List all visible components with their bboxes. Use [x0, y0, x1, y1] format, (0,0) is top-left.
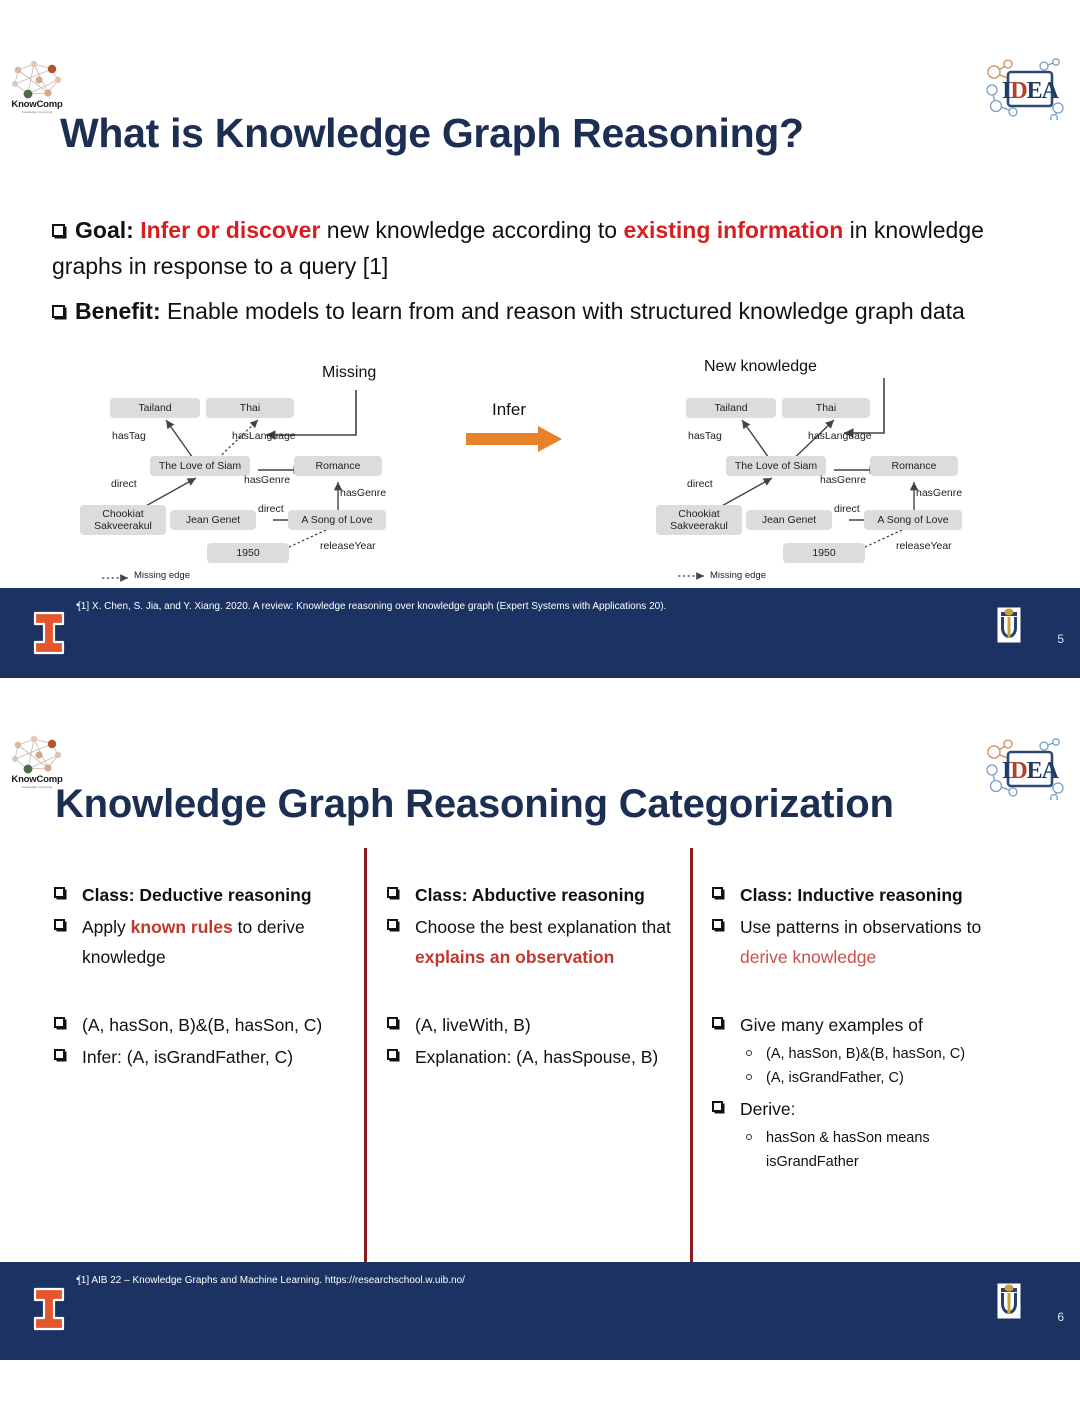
col3-subitem-0: (A, hasSon, B)&(B, hasSon, C) [710, 1042, 1030, 1066]
kg-left-node-a-song-of-love: A Song of Love [288, 510, 386, 530]
kg-right-edge-hastag: hasTag [688, 430, 722, 442]
checkbox-square-icon [387, 1049, 398, 1060]
slide2-page-number: 6 [1057, 1310, 1064, 1324]
slide2-title: Knowledge Graph Reasoning Categorization [55, 782, 894, 827]
slide1-footer: • [1] X. Chen, S. Jia, and Y. Xiang. 202… [0, 588, 1080, 678]
kg-left-edge-hastag: hasTag [112, 430, 146, 442]
col1-heading-label: Class: Deductive reasoning [82, 885, 312, 905]
col2-item-0: (A, liveWith, B) [385, 1010, 685, 1040]
hkust-logo [996, 606, 1022, 644]
bullet-goal: Goal: Infer or discover new knowledge ac… [52, 212, 1032, 284]
col3-subitem-1: (A, isGrandFather, C) [710, 1066, 1030, 1090]
slide2-footer-reference: [1] AIB 22 – Knowledge Graphs and Machin… [78, 1275, 465, 1286]
circle-bullet-icon [746, 1134, 752, 1140]
col3-item-0: Give many examples of [710, 1010, 1030, 1040]
column-divider-2 [690, 848, 693, 1293]
checkbox-square-icon [387, 919, 398, 930]
checkbox-square-icon [54, 919, 65, 930]
slide1-page-number: 5 [1057, 632, 1064, 646]
kg-left-edge-hasgenre-2: hasGenre [340, 487, 386, 499]
kg-right-node-tailand: Tailand [686, 398, 776, 418]
checkbox-square-icon [712, 887, 723, 898]
column-deductive: Class: Deductive reasoning Apply known r… [52, 880, 352, 1074]
col3-heading: Class: Inductive reasoning [710, 880, 1030, 910]
col2-heading-label: Class: Abductive reasoning [415, 885, 645, 905]
checkbox-square-icon [712, 1017, 723, 1028]
infer-arrow-icon [466, 425, 566, 460]
idea-logo: IDEA [984, 738, 1068, 800]
kg-left-legend: Missing edge [134, 570, 190, 581]
col1-item-0: (A, hasSon, B)&(B, hasSon, C) [52, 1010, 352, 1040]
circle-bullet-icon [746, 1050, 752, 1056]
bullet-goal-part-2: existing information [623, 217, 843, 243]
kg-right-node-thai: Thai [782, 398, 870, 418]
slide1-footer-reference: [1] X. Chen, S. Jia, and Y. Xiang. 2020.… [78, 601, 666, 612]
knowcomp-network-icon [8, 735, 66, 775]
kg-right-node-romance: Romance [870, 456, 958, 476]
kg-left-node-1950: 1950 [207, 543, 289, 563]
checkbox-square-icon [52, 305, 65, 318]
column-abductive: Class: Abductive reasoning Choose the be… [385, 880, 685, 1074]
checkbox-square-icon [387, 887, 398, 898]
col1-desc-pre: Apply [82, 917, 131, 937]
bullet-goal-lead: Goal [75, 217, 126, 243]
kg-right-edge-direct-1: direct [687, 478, 713, 490]
col2-desc-highlight: explains an observation [415, 947, 614, 967]
kg-left-edge-direct-2: direct [258, 503, 284, 515]
col3-heading-label: Class: Inductive reasoning [740, 885, 963, 905]
kg-right-node-chookiat: Chookiat Sakveerakul [656, 505, 742, 535]
kg-left-caption: Missing [322, 364, 376, 382]
kg-left-edge-direct-1: direct [111, 478, 137, 490]
kg-right-edge-hasgenre-2: hasGenre [916, 487, 962, 499]
kg-right-node-love-of-siam: The Love of Siam [726, 456, 826, 476]
kg-right-caption: New knowledge [704, 358, 817, 376]
kg-left-node-tailand: Tailand [110, 398, 200, 418]
col2-item-0-label: (A, liveWith, B) [415, 1015, 531, 1035]
svg-text:IDEA: IDEA [1002, 758, 1060, 784]
col2-spacer [385, 974, 685, 1010]
kg-right-node-a-song-of-love: A Song of Love [864, 510, 962, 530]
kg-right-edge-direct-2: direct [834, 503, 860, 515]
slide1-title: What is Knowledge Graph Reasoning? [60, 110, 804, 157]
col1-item-1-label: Infer: (A, isGrandFather, C) [82, 1047, 293, 1067]
col3-desc-pre: Use patterns in observations to [740, 917, 981, 937]
col2-item-1-label: Explanation: (A, hasSpouse, B) [415, 1047, 658, 1067]
kg-right-node-jean-genet: Jean Genet [746, 510, 832, 530]
infer-label: Infer [492, 400, 526, 420]
kg-right-legend: Missing edge [710, 570, 766, 581]
hkust-logo [996, 1282, 1022, 1320]
col3-subitem-2-label: hasSon & hasSon means isGrandFather [766, 1130, 930, 1170]
col1-item-0-label: (A, hasSon, B)&(B, hasSon, C) [82, 1015, 322, 1035]
knowcomp-network-icon [8, 60, 66, 100]
svg-text:IDEA: IDEA [1002, 78, 1060, 104]
checkbox-square-icon [712, 1101, 723, 1112]
bullet-benefit-lead: Benefit: [75, 298, 161, 324]
checkbox-square-icon [54, 887, 65, 898]
col3-item-0-label: Give many examples of [740, 1015, 923, 1035]
kg-left-node-jean-genet: Jean Genet [170, 510, 256, 530]
kg-left-edge-releaseyear: releaseYear [320, 540, 376, 552]
bullet-benefit: Benefit: Enable models to learn from and… [52, 293, 1032, 329]
knowcomp-logo: KnowComp Knowledge Computing [8, 60, 66, 116]
idea-logo-icon: IDEA [984, 58, 1068, 120]
idea-logo-icon: IDEA [984, 738, 1068, 800]
slide-knowledge-graph-reasoning: KnowComp Knowledge Computing IDEA What i… [0, 0, 1080, 678]
col3-subitem-1-label: (A, isGrandFather, C) [766, 1070, 904, 1086]
bullet-goal-part-0: Infer or discover [140, 217, 320, 243]
checkbox-square-icon [54, 1049, 65, 1060]
col1-description: Apply known rules to derive knowledge [52, 912, 352, 972]
col3-item-1: Derive: [710, 1094, 1030, 1124]
col3-description: Use patterns in observations to derive k… [710, 912, 1030, 972]
kg-right-node-1950: 1950 [783, 543, 865, 563]
checkbox-square-icon [387, 1017, 398, 1028]
bullet-goal-sep: : [126, 217, 134, 243]
column-inductive: Class: Inductive reasoning Use patterns … [710, 880, 1030, 1174]
kg-left-node-love-of-siam: The Love of Siam [150, 456, 250, 476]
slide2-footer: • [1] AIB 22 – Knowledge Graphs and Mach… [0, 1262, 1080, 1360]
col3-subitem-2: hasSon & hasSon means isGrandFather [710, 1126, 1030, 1174]
col1-heading: Class: Deductive reasoning [52, 880, 352, 910]
kg-left-edge-haslanguage: hasLanguage [232, 430, 296, 442]
checkbox-square-icon [54, 1017, 65, 1028]
kg-right-edge-haslanguage: hasLanguage [808, 430, 872, 442]
col3-subitem-0-label: (A, hasSon, B)&(B, hasSon, C) [766, 1046, 965, 1062]
illinois-logo [30, 610, 68, 656]
circle-bullet-icon [746, 1074, 752, 1080]
slide-kg-reasoning-categorization: KnowComp Knowledge Computing IDEA Knowle… [0, 700, 1080, 1413]
col2-item-1: Explanation: (A, hasSpouse, B) [385, 1042, 685, 1072]
kg-left-node-thai: Thai [206, 398, 294, 418]
checkbox-square-icon [52, 224, 65, 237]
col3-spacer [710, 974, 1030, 1010]
knowcomp-tagline: Knowledge Computing [8, 110, 66, 114]
kg-right-edge-hasgenre-1: hasGenre [820, 474, 866, 486]
col3-item-1-label: Derive: [740, 1099, 795, 1119]
illinois-logo [30, 1286, 68, 1332]
col2-desc-pre: Choose the best explanation that [415, 917, 671, 937]
bullet-benefit-text: Enable models to learn from and reason w… [167, 298, 965, 324]
kg-right-edge-releaseyear: releaseYear [896, 540, 952, 552]
col1-desc-highlight: known rules [131, 917, 233, 937]
kg-left-node-chookiat: Chookiat Sakveerakul [80, 505, 166, 535]
col1-item-1: Infer: (A, isGrandFather, C) [52, 1042, 352, 1072]
col3-desc-highlight: derive knowledge [740, 947, 876, 967]
col1-spacer [52, 974, 352, 1010]
idea-logo: IDEA [984, 58, 1068, 120]
knowcomp-label: KnowComp [8, 100, 66, 110]
col2-heading: Class: Abductive reasoning [385, 880, 685, 910]
checkbox-square-icon [712, 919, 723, 930]
col2-description: Choose the best explanation that explain… [385, 912, 685, 972]
bullet-goal-part-1: new knowledge according to [320, 217, 623, 243]
kg-left-edge-hasgenre-1: hasGenre [244, 474, 290, 486]
column-divider-1 [364, 848, 367, 1293]
kg-left-node-romance: Romance [294, 456, 382, 476]
